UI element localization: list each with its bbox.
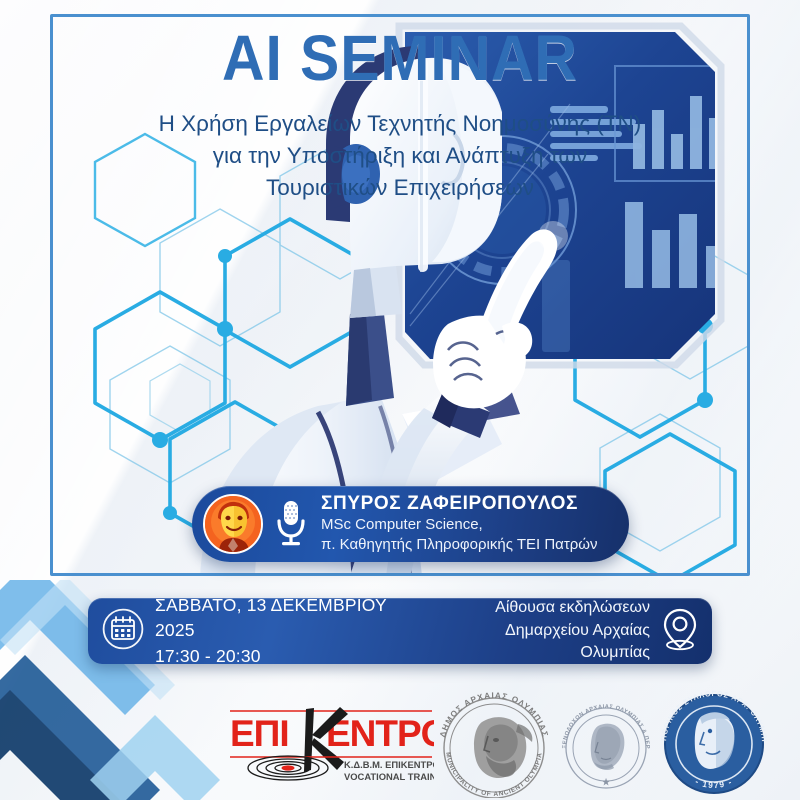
speaker-info: ΣΠΥΡΟΣ ΖΑΦΕΙΡΟΠΟΥΛΟΣ MSc Computer Scienc…: [321, 493, 598, 555]
hoteliers-union-seal: ΕΝΩΣΙΣ ΞΕΝΟΔΟΧΩΝ ΑΡΧΑΙΑΣ ΟΛΥΜΠΙΑΣ & ΠΕΡΙ…: [558, 700, 654, 796]
venue-line-2: Δημαρχείου Αρχαίας Ολυμπίας: [431, 620, 650, 665]
epikentro-tagline-2: VOCATIONAL TRAINING: [344, 771, 434, 782]
event-date: ΣΑΒΒΑΤΟ, 13 ΔΕΚΕΜΒΡΙΟΥ 2025: [155, 593, 431, 644]
venue-line-1: Αίθουσα εκδηλώσεων: [431, 597, 650, 620]
avatar: [203, 494, 263, 554]
municipality-ancient-olympia-seal: ΔΗΜΟΣ ΑΡΧΑΙΑΣ ΟΛΥΜΠΙΑΣ MUNICIPALITY OF A…: [430, 688, 558, 798]
event-time: 17:30 - 20:30: [155, 644, 431, 669]
event-datetime: ΣΑΒΒΑΤΟ, 13 ΔΕΚΕΜΒΡΙΟΥ 2025 17:30 - 20:3…: [155, 593, 431, 669]
speaker-badge: ΣΠΥΡΟΣ ΖΑΦΕΙΡΟΠΟΥΛΟΣ MSc Computer Scienc…: [192, 486, 629, 562]
event-venue: Αίθουσα εκδηλώσεων Δημαρχείου Αρχαίας Ολ…: [431, 597, 650, 665]
speaker-credential-2: π. Καθηγητής Πληροφορικής ΤΕΙ Πατρών: [321, 535, 598, 555]
epikentro-logo: ΕΠΙ ΕΝΤΡΟ Κ.Δ.Β.Μ: [228, 702, 434, 789]
speaker-name: ΣΠΥΡΟΣ ΖΑΦΕΙΡΟΠΟΥΛΟΣ: [321, 493, 598, 515]
calendar-icon: [102, 608, 144, 655]
epikentro-part1: ΕΠΙ: [230, 713, 289, 754]
seminar-poster: AI SEMINAR Η Χρήση Εργαλείων Τεχνητής Νο…: [0, 0, 800, 800]
logo-row: ΕΠΙ ΕΝΤΡΟ Κ.Δ.Β.Μ: [0, 686, 800, 798]
event-info-bar: ΣΑΒΒΑΤΟ, 13 ΔΕΚΕΜΒΡΙΟΥ 2025 17:30 - 20:3…: [88, 598, 712, 664]
epikentro-tagline-1: Κ.Δ.Β.Μ. ΕΠΙΚΕΝΤΡΟ: [344, 759, 434, 770]
commercial-association-seal: ΕΜΠΟΡΙΚΟΣ ΣΥΛΛΟΓΟΣ ΑΡΧ. ΟΛΥΜΠΙΑΣ - 1979 …: [658, 688, 770, 800]
seal-2-text-bottom: ★: [602, 777, 611, 787]
speaker-credential-1: MSc Computer Science,: [321, 515, 598, 535]
location-pin-icon: [660, 606, 700, 657]
microphone-icon: [271, 497, 311, 552]
